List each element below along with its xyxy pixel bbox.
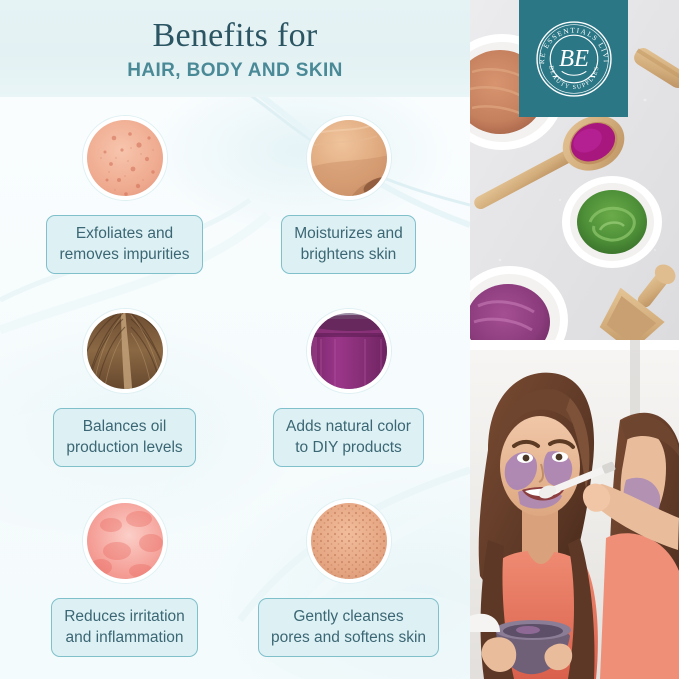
product-photo-column: BARE ESSENTIALS LIVING BEAUTY SUPPLIES B… xyxy=(470,0,679,679)
page-title: Benefits for xyxy=(0,16,470,56)
benefit-image-wrap xyxy=(303,112,395,204)
benefit-cell-cleanses-pores: Gently cleanses pores and softens skin xyxy=(231,495,466,657)
woman-applying-purple-face-mask-photo xyxy=(470,340,679,679)
bare-essentials-living-seal-icon: BARE ESSENTIALS LIVING BEAUTY SUPPLIES B… xyxy=(530,15,618,103)
benefit-label: Exfoliates and removes impurities xyxy=(46,215,202,274)
benefit-label: Adds natural color to DIY products xyxy=(273,408,424,467)
benefit-cell-exfoliates: Exfoliates and removes impurities xyxy=(7,112,242,274)
benefits-panel: Benefits for HAIR, BODY AND SKIN xyxy=(0,0,470,679)
flat-lay-clay-mask-bowls-photo: BARE ESSENTIALS LIVING BEAUTY SUPPLIES B… xyxy=(470,0,679,340)
svg-text:BE: BE xyxy=(558,45,588,72)
blemished-skin-closeup-photo xyxy=(83,116,167,200)
hair-scalp-parting-photo xyxy=(83,309,167,393)
irritated-red-skin-photo xyxy=(83,499,167,583)
benefit-label: Gently cleanses pores and softens skin xyxy=(258,598,439,657)
benefit-image-wrap xyxy=(303,305,395,397)
benefit-cell-balances-oil: Balances oil production levels xyxy=(7,305,242,467)
benefit-cell-natural-color: Adds natural color to DIY products xyxy=(231,305,466,467)
brand-logo-badge: BARE ESSENTIALS LIVING BEAUTY SUPPLIES B… xyxy=(519,0,628,117)
infographic-canvas: Benefits for HAIR, BODY AND SKIN xyxy=(0,0,679,679)
benefit-image-wrap xyxy=(79,305,171,397)
benefit-label: Reduces irritation and inflammation xyxy=(51,598,198,657)
benefit-image-wrap xyxy=(303,495,395,587)
smooth-face-skin-closeup-photo xyxy=(307,116,391,200)
benefit-label: Balances oil production levels xyxy=(53,408,195,467)
benefit-cell-reduces-irritation: Reduces irritation and inflammation xyxy=(7,495,242,657)
benefit-image-wrap xyxy=(79,495,171,587)
pores-skin-texture-photo xyxy=(307,499,391,583)
page-subtitle: HAIR, BODY AND SKIN xyxy=(0,59,470,83)
benefit-image-wrap xyxy=(79,112,171,204)
benefit-label: Moisturizes and brightens skin xyxy=(281,215,416,274)
benefit-cell-moisturizes: Moisturizes and brightens skin xyxy=(231,112,466,274)
purple-powder-jar-photo xyxy=(307,309,391,393)
